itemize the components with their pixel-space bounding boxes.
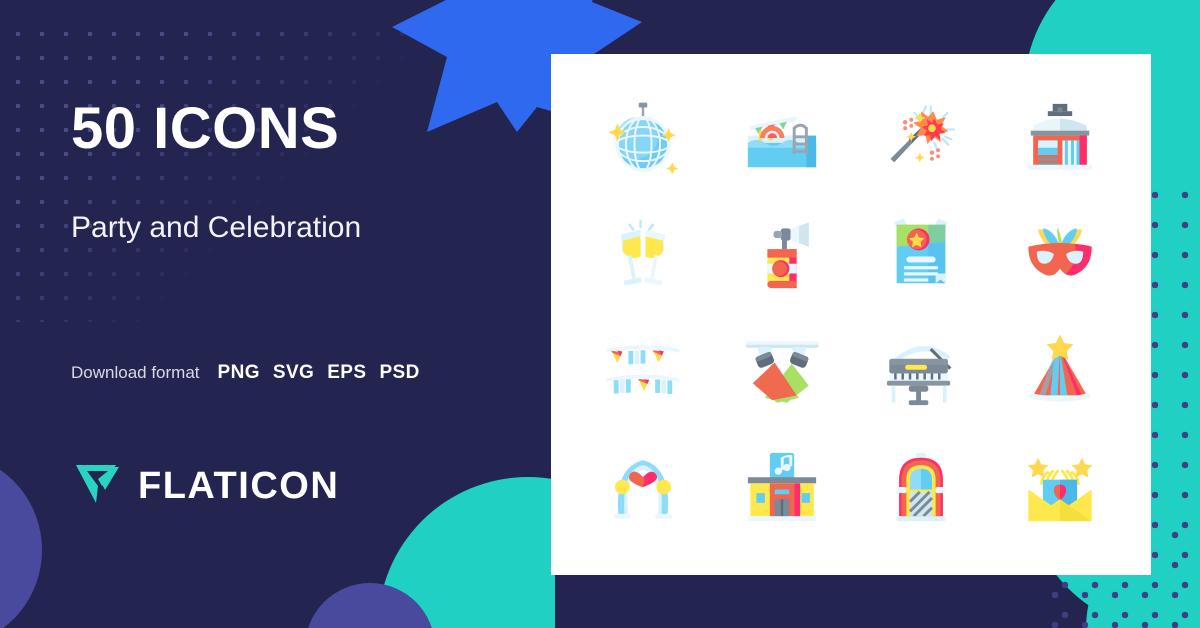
- air-horn-icon: [743, 215, 821, 293]
- icon-cell[interactable]: [990, 429, 1129, 545]
- format-psd[interactable]: PSD: [379, 362, 419, 384]
- brand-lockup: FLATICON: [72, 460, 339, 513]
- info-column: 50 ICONS Party and Celebration Download …: [0, 0, 551, 628]
- invitation-icon: [1021, 448, 1099, 526]
- brand-name: FLATICON: [138, 465, 339, 508]
- download-format-label: Download format: [71, 363, 200, 383]
- icon-cell[interactable]: [573, 80, 712, 196]
- poster-icon: [882, 215, 960, 293]
- nightclub-icon: [743, 448, 821, 526]
- piano-icon: [882, 332, 960, 410]
- icon-cell[interactable]: [712, 313, 851, 429]
- icon-cell[interactable]: [712, 429, 851, 545]
- flaticon-logo-icon: [72, 460, 124, 513]
- jukebox-icon: [882, 448, 960, 526]
- icon-cell[interactable]: [851, 429, 990, 545]
- icon-cell[interactable]: [573, 429, 712, 545]
- icon-cell[interactable]: [851, 313, 990, 429]
- format-svg[interactable]: SVG: [273, 362, 314, 384]
- icon-cell[interactable]: [573, 313, 712, 429]
- icon-grid: [551, 54, 1151, 575]
- carnival-mask-icon: [1021, 215, 1099, 293]
- magic-wand-icon: [882, 99, 960, 177]
- promo-banner: 50 ICONS Party and Celebration Download …: [0, 0, 1200, 628]
- icon-cell[interactable]: [573, 196, 712, 312]
- format-png[interactable]: PNG: [218, 362, 260, 384]
- download-format-row: Download format PNG SVG EPS PSD: [71, 362, 420, 384]
- party-hat-icon: [1021, 332, 1099, 410]
- icon-cell[interactable]: [990, 313, 1129, 429]
- champagne-toast-icon: [604, 215, 682, 293]
- swimming-pool-icon: [743, 99, 821, 177]
- icon-cell[interactable]: [712, 80, 851, 196]
- wedding-arch-icon: [604, 448, 682, 526]
- stage-lights-icon: [743, 332, 821, 410]
- page-title: 50 ICONS: [71, 100, 339, 158]
- icon-cell[interactable]: [990, 80, 1129, 196]
- icon-cell[interactable]: [851, 196, 990, 312]
- format-eps[interactable]: EPS: [327, 362, 366, 384]
- icon-cell[interactable]: [712, 196, 851, 312]
- icon-preview-card: [551, 54, 1151, 575]
- icon-cell[interactable]: [851, 80, 990, 196]
- bunting-icon: [604, 332, 682, 410]
- download-format-list: PNG SVG EPS PSD: [218, 362, 420, 384]
- party-store-icon: [1021, 99, 1099, 177]
- page-subtitle: Party and Celebration: [71, 210, 361, 246]
- icon-cell[interactable]: [990, 196, 1129, 312]
- disco-ball-icon: [604, 99, 682, 177]
